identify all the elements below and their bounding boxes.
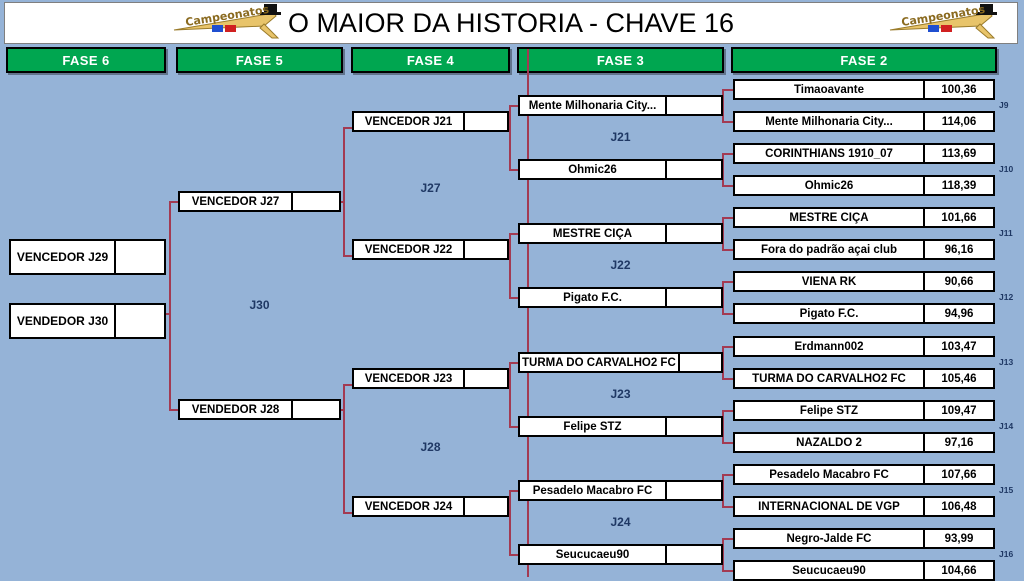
connector xyxy=(509,554,518,556)
team-name: TURMA DO CARVALHO2 FC xyxy=(735,370,923,387)
team-name: Seucucaeu90 xyxy=(520,546,665,563)
team-score: 104,66 xyxy=(923,562,993,579)
phase-header-label: FASE 6 xyxy=(62,53,109,68)
team-score xyxy=(463,498,507,515)
page-title: O MAIOR DA HISTORIA - CHAVE 16 xyxy=(288,8,734,39)
connector xyxy=(343,127,352,129)
phase-header-label: FASE 5 xyxy=(236,53,283,68)
connector xyxy=(722,506,733,508)
team-name: NAZALDO 2 xyxy=(735,434,923,451)
team-score: 96,16 xyxy=(923,241,993,258)
connector xyxy=(509,105,518,107)
bracket-slot-fase3[interactable]: Pesadelo Macabro FC xyxy=(518,480,723,501)
team-score: 105,46 xyxy=(923,370,993,387)
match-id-tag: J14 xyxy=(999,421,1013,431)
connector xyxy=(722,378,733,380)
team-score: 97,16 xyxy=(923,434,993,451)
connector xyxy=(722,346,733,348)
campeonatos-logo-left-icon: Campeonatos xyxy=(168,4,286,40)
connector xyxy=(509,233,511,297)
team-score: 100,36 xyxy=(923,81,993,98)
bracket-slot-fase3[interactable]: MESTRE CIÇA xyxy=(518,223,723,244)
connector xyxy=(169,409,178,411)
team-score xyxy=(665,482,721,499)
match-id-label: J23 xyxy=(518,387,723,401)
bracket-slot-fase2[interactable]: Felipe STZ109,47 xyxy=(733,400,995,421)
team-name: Ohmic26 xyxy=(735,177,923,194)
bracket-slot-fase2[interactable]: Ohmic26118,39 xyxy=(733,175,995,196)
connector xyxy=(343,255,352,257)
team-score: 93,99 xyxy=(923,530,993,547)
connector xyxy=(509,426,518,428)
team-score: 101,66 xyxy=(923,209,993,226)
team-score: 94,96 xyxy=(923,305,993,322)
match-id-tag: J10 xyxy=(999,164,1013,174)
bracket-slot-fase4[interactable]: VENCEDOR J22 xyxy=(352,239,509,260)
phase-header-label: FASE 4 xyxy=(407,53,454,68)
team-score: 90,66 xyxy=(923,273,993,290)
connector xyxy=(722,185,733,187)
team-name: MESTRE CIÇA xyxy=(735,209,923,226)
team-score: 113,69 xyxy=(923,145,993,162)
connector xyxy=(343,384,352,386)
team-name: VENDEDOR J28 xyxy=(180,401,291,418)
team-name: VENCEDOR J22 xyxy=(354,241,463,258)
bracket-slot-fase2[interactable]: Pigato F.C.94,96 xyxy=(733,303,995,324)
bracket-slot-fase2[interactable]: Pesadelo Macabro FC107,66 xyxy=(733,464,995,485)
phase-header-fase4[interactable]: FASE 4 xyxy=(351,47,510,73)
team-score: 106,48 xyxy=(923,498,993,515)
team-name: Pigato F.C. xyxy=(735,305,923,322)
bracket-slot-fase3[interactable]: Felipe STZ xyxy=(518,416,723,437)
match-id-tag: J15 xyxy=(999,485,1013,495)
match-id-tag: J13 xyxy=(999,357,1013,367)
team-score: 114,06 xyxy=(923,113,993,130)
connector xyxy=(722,474,733,476)
connector xyxy=(722,153,733,155)
team-score xyxy=(665,546,721,563)
connector xyxy=(722,249,733,251)
team-score xyxy=(291,193,339,210)
bracket-slot-fase2[interactable]: MESTRE CIÇA101,66 xyxy=(733,207,995,228)
connector xyxy=(343,384,345,512)
team-name: VIENA RK xyxy=(735,273,923,290)
match-id-tag: J9 xyxy=(999,100,1008,110)
phase-header-fase6[interactable]: FASE 6 xyxy=(6,47,166,73)
team-name: VENCEDOR J24 xyxy=(354,498,463,515)
team-name: VENCEDOR J21 xyxy=(354,113,463,130)
title-bar: O MAIOR DA HISTORIA - CHAVE 16 xyxy=(4,2,1018,44)
connector xyxy=(509,362,518,364)
team-name: Fora do padrão açai club xyxy=(735,241,923,258)
phase-header-fase5[interactable]: FASE 5 xyxy=(176,47,343,73)
connector xyxy=(509,297,518,299)
campeonatos-logo-right-icon: Campeonatos xyxy=(884,4,1002,40)
connector xyxy=(343,512,352,514)
match-id-tag: J12 xyxy=(999,292,1013,302)
connector xyxy=(509,490,518,492)
match-id-tag: J16 xyxy=(999,549,1013,559)
team-name: VENCEDOR J29 xyxy=(11,241,114,273)
bracket-slot-fase3[interactable]: Ohmic26 xyxy=(518,159,723,180)
match-id-label: J28 xyxy=(352,440,509,454)
team-score xyxy=(463,241,507,258)
bracket-slot-fase2[interactable]: VIENA RK90,66 xyxy=(733,271,995,292)
match-id-tag: J11 xyxy=(999,228,1013,238)
connector xyxy=(722,281,733,283)
connector xyxy=(169,201,178,203)
bracket-slot-fase5[interactable]: VENCEDOR J27 xyxy=(178,191,341,212)
match-id-label: J27 xyxy=(352,181,509,195)
bracket-slot-fase2[interactable]: Negro-Jalde FC93,99 xyxy=(733,528,995,549)
team-score: 107,66 xyxy=(923,466,993,483)
match-id-label: J21 xyxy=(518,130,723,144)
team-name: Mente Milhonaria City... xyxy=(735,113,923,130)
team-score xyxy=(114,305,164,337)
match-id-label: J24 xyxy=(518,515,723,529)
team-score xyxy=(291,401,339,418)
connector xyxy=(722,313,733,315)
bracket-slot-fase2[interactable]: NAZALDO 297,16 xyxy=(733,432,995,453)
team-name: Negro-Jalde FC xyxy=(735,530,923,547)
bracket-slot-fase3[interactable]: Mente Milhonaria City... xyxy=(518,95,723,116)
connector xyxy=(722,121,733,123)
phase-header-fase2[interactable]: FASE 2 xyxy=(731,47,997,73)
team-name: Pesadelo Macabro FC xyxy=(735,466,923,483)
connector xyxy=(722,89,733,91)
team-score xyxy=(665,225,721,242)
bracket-slot-fase2[interactable]: INTERNACIONAL DE VGP106,48 xyxy=(733,496,995,517)
team-name: Pesadelo Macabro FC xyxy=(520,482,665,499)
match-id-label: J22 xyxy=(518,258,723,272)
team-name: Ohmic26 xyxy=(520,161,665,178)
team-name: INTERNACIONAL DE VGP xyxy=(735,498,923,515)
connector xyxy=(509,233,518,235)
team-score xyxy=(678,354,734,371)
connector xyxy=(343,127,345,255)
team-name: CORINTHIANS 1910_07 xyxy=(735,145,923,162)
connector xyxy=(509,169,518,171)
team-score xyxy=(665,97,721,114)
team-name: MESTRE CIÇA xyxy=(520,225,665,242)
team-name: TURMA DO CARVALHO2 FC xyxy=(520,354,678,371)
bracket-slot-fase2[interactable]: Erdmann002103,47 xyxy=(733,336,995,357)
match-id-label: J30 xyxy=(178,298,341,312)
bracket-canvas: O MAIOR DA HISTORIA - CHAVE 16 Campeonat… xyxy=(0,0,1024,581)
team-name: Felipe STZ xyxy=(735,402,923,419)
connector xyxy=(509,490,511,554)
bracket-slot-fase4[interactable]: VENCEDOR J23 xyxy=(352,368,509,389)
bracket-slot-fase5[interactable]: VENDEDOR J28 xyxy=(178,399,341,420)
bracket-slot-fase2[interactable]: CORINTHIANS 1910_07113,69 xyxy=(733,143,995,164)
connector xyxy=(722,410,733,412)
team-score xyxy=(114,241,164,273)
team-name: Seucucaeu90 xyxy=(735,562,923,579)
team-score: 109,47 xyxy=(923,402,993,419)
bracket-slot-fase6[interactable]: VENDEDOR J30 xyxy=(9,303,166,339)
connector xyxy=(509,362,511,426)
bracket-slot-fase6[interactable]: VENCEDOR J29 xyxy=(9,239,166,275)
bracket-slot-fase3[interactable]: TURMA DO CARVALHO2 FC xyxy=(518,352,723,373)
connector xyxy=(722,538,733,540)
team-name: VENCEDOR J23 xyxy=(354,370,463,387)
team-score: 118,39 xyxy=(923,177,993,194)
team-score xyxy=(463,113,507,130)
bracket-slot-fase3[interactable]: Pigato F.C. xyxy=(518,287,723,308)
bracket-slot-fase2[interactable]: Seucucaeu90104,66 xyxy=(733,560,995,581)
bracket-slot-fase4[interactable]: VENCEDOR J21 xyxy=(352,111,509,132)
team-name: Timaoavante xyxy=(735,81,923,98)
team-name: VENCEDOR J27 xyxy=(180,193,291,210)
phase-header-fase3[interactable]: FASE 3 xyxy=(517,47,724,73)
team-name: Pigato F.C. xyxy=(520,289,665,306)
team-score xyxy=(463,370,507,387)
bracket-slot-fase2[interactable]: Fora do padrão açai club96,16 xyxy=(733,239,995,260)
team-score xyxy=(665,161,721,178)
phase-header-label: FASE 3 xyxy=(597,53,644,68)
connector xyxy=(722,217,733,219)
team-score xyxy=(665,289,721,306)
bracket-slot-fase3[interactable]: Seucucaeu90 xyxy=(518,544,723,565)
team-score: 103,47 xyxy=(923,338,993,355)
bracket-slot-fase2[interactable]: TURMA DO CARVALHO2 FC105,46 xyxy=(733,368,995,389)
team-score xyxy=(665,418,721,435)
connector xyxy=(169,201,171,409)
connector xyxy=(509,105,511,169)
connector xyxy=(722,570,733,572)
team-name: VENDEDOR J30 xyxy=(11,305,114,337)
connector xyxy=(722,442,733,444)
team-name: Erdmann002 xyxy=(735,338,923,355)
bracket-slot-fase2[interactable]: Mente Milhonaria City...114,06 xyxy=(733,111,995,132)
bracket-slot-fase2[interactable]: Timaoavante100,36 xyxy=(733,79,995,100)
bracket-slot-fase4[interactable]: VENCEDOR J24 xyxy=(352,496,509,517)
team-name: Felipe STZ xyxy=(520,418,665,435)
team-name: Mente Milhonaria City... xyxy=(520,97,665,114)
phase-header-label: FASE 2 xyxy=(840,53,887,68)
